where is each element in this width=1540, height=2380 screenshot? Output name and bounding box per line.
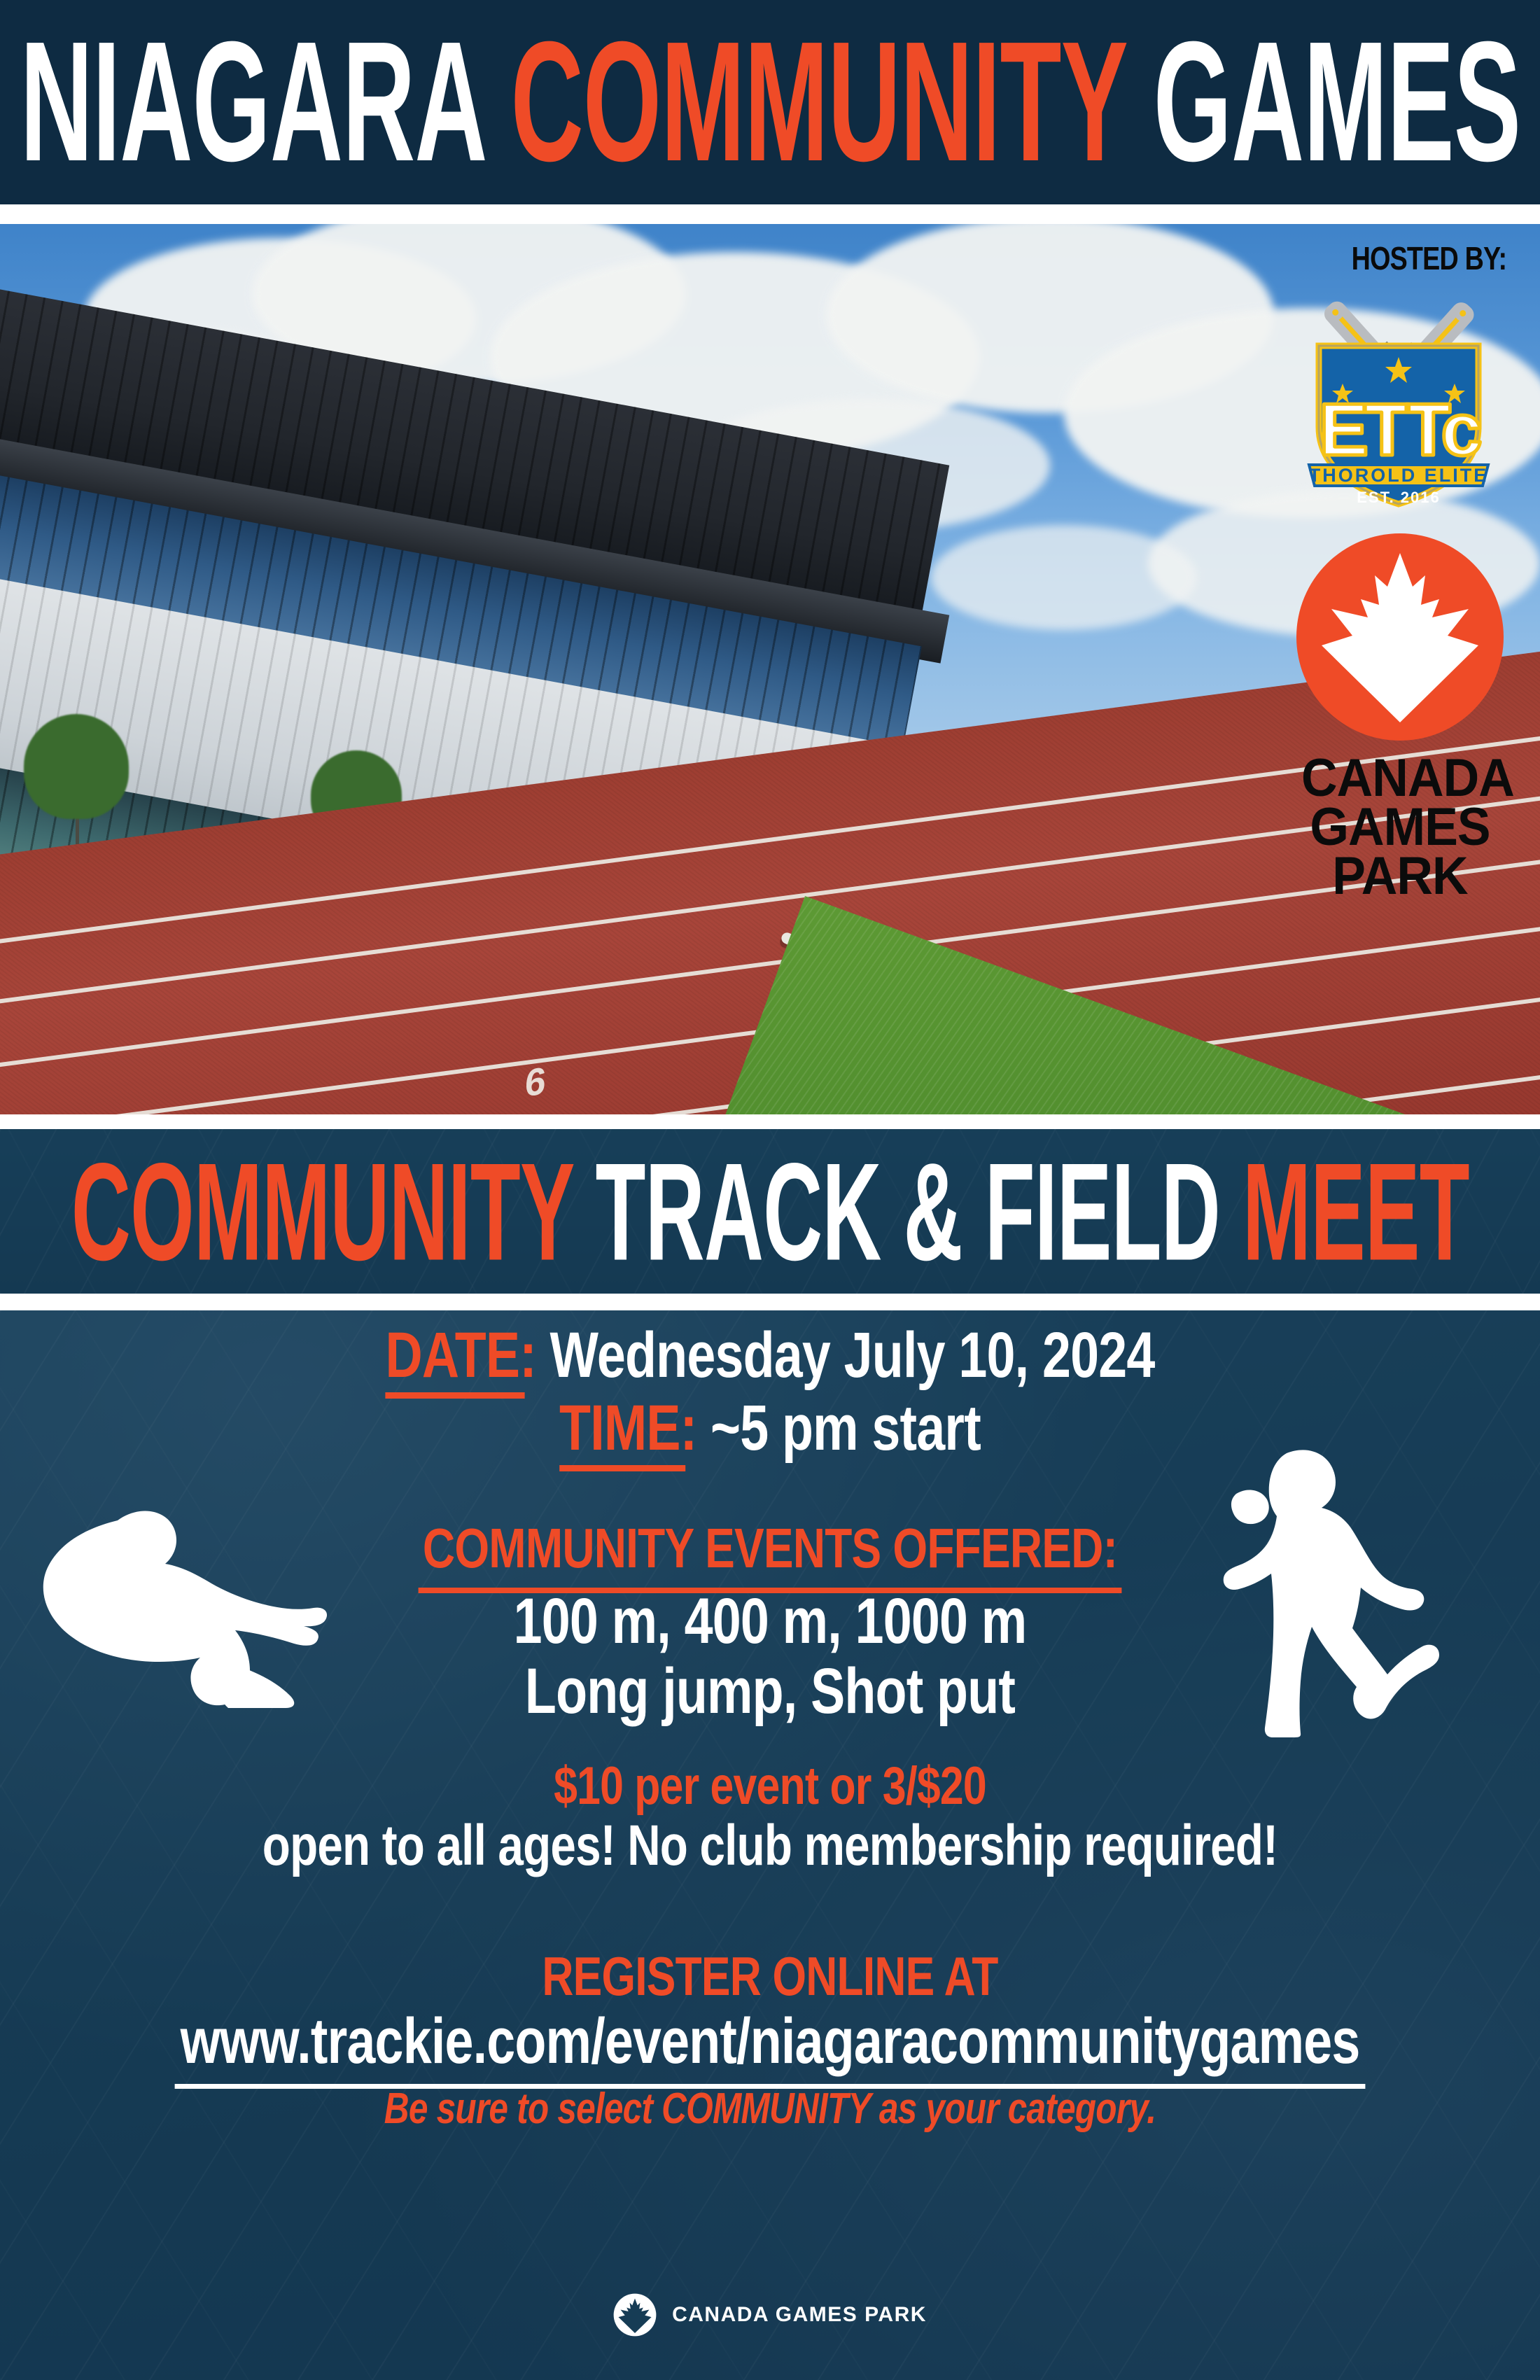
- cgp-line-1: CANADA: [1301, 754, 1499, 803]
- details-section: DATE: Wednesday July 10, 2024 TIME: ~5 p…: [0, 1310, 1540, 2380]
- title-part-games: GAMES: [1126, 6, 1520, 197]
- svg-text:THOROLD ELITE: THOROLD ELITE: [1309, 465, 1489, 486]
- events-heading-row: COMMUNITY EVENTS OFFERED:: [154, 1520, 1386, 1576]
- footer-text: CANADA GAMES PARK: [672, 2303, 927, 2327]
- date-label: DATE:: [386, 1319, 536, 1391]
- time-label: TIME:: [559, 1392, 696, 1464]
- svg-text:EST. 2016: EST. 2016: [1357, 489, 1441, 506]
- events-line-1: 100 m, 400 m, 1000 m: [154, 1589, 1386, 1653]
- hosted-by-label: HOSTED BY:: [1351, 239, 1506, 277]
- lane-number: 6: [524, 1058, 547, 1105]
- register-heading: REGISTER ONLINE AT: [154, 1949, 1386, 2003]
- poster-root: NIAGARA COMMUNITY GAMES: [0, 0, 1540, 2380]
- events-line-2: Long jump, Shot put: [154, 1659, 1386, 1723]
- date-row: DATE: Wednesday July 10, 2024: [154, 1323, 1386, 1387]
- maple-leaf-arrow-icon: [613, 2293, 657, 2337]
- time-row: TIME: ~5 pm start: [154, 1396, 1386, 1460]
- register-url-text: www.trackie.com/event/niagaracommunityga…: [181, 2005, 1360, 2077]
- subtitle-part-track-field: TRACK & FIELD: [573, 1134, 1242, 1289]
- cgp-logo-text: CANADA GAMES PARK: [1301, 754, 1499, 901]
- cgp-line-3: PARK: [1301, 852, 1499, 901]
- register-note: Be sure to select COMMUNITY as your cate…: [154, 2087, 1386, 2131]
- price-text: $10 per event or 3/$20: [154, 1760, 1386, 1813]
- date-label-wrap: DATE:: [386, 1323, 536, 1387]
- svg-text:ETTc: ETTc: [1319, 388, 1480, 471]
- time-underline: [559, 1465, 685, 1471]
- footer: CANADA GAMES PARK: [0, 2293, 1540, 2337]
- subtitle-part-community: COMMUNITY: [71, 1134, 573, 1289]
- venue-photo: 6 HOSTED BY:: [0, 224, 1540, 1114]
- subtitle-banner: COMMUNITY TRACK & FIELD MEET: [0, 1129, 1540, 1294]
- open-notice-text: open to all ages! No club membership req…: [154, 1817, 1386, 1875]
- header-title-bar: NIAGARA COMMUNITY GAMES: [0, 0, 1540, 204]
- tree: [24, 714, 129, 819]
- events-heading-wrap: COMMUNITY EVENTS OFFERED:: [423, 1520, 1117, 1576]
- register-url-link[interactable]: www.trackie.com/event/niagaracommunityga…: [181, 2009, 1360, 2073]
- ettc-thorold-elite-logo: ETTc THOROLD ELITE EST. 2016: [1273, 279, 1525, 510]
- time-label-wrap: TIME:: [559, 1396, 696, 1460]
- cgp-line-2: GAMES: [1301, 803, 1499, 852]
- events-heading: COMMUNITY EVENTS OFFERED:: [423, 1517, 1117, 1579]
- subtitle-part-meet: MEET: [1242, 1134, 1469, 1289]
- title-part-niagara: NIAGARA: [20, 6, 510, 197]
- subtitle: COMMUNITY TRACK & FIELD MEET: [71, 1142, 1469, 1280]
- title-part-community: COMMUNITY: [510, 6, 1126, 197]
- maple-leaf-arrow-icon: [1295, 532, 1505, 742]
- canada-games-park-logo: CANADA GAMES PARK: [1295, 532, 1505, 901]
- date-value: Wednesday July 10, 2024: [536, 1319, 1155, 1391]
- cloud: [931, 525, 1197, 630]
- time-value: ~5 pm start: [696, 1392, 981, 1464]
- page-title: NIAGARA COMMUNITY GAMES: [20, 17, 1520, 188]
- register-url-row: www.trackie.com/event/niagaracommunityga…: [0, 2009, 1540, 2073]
